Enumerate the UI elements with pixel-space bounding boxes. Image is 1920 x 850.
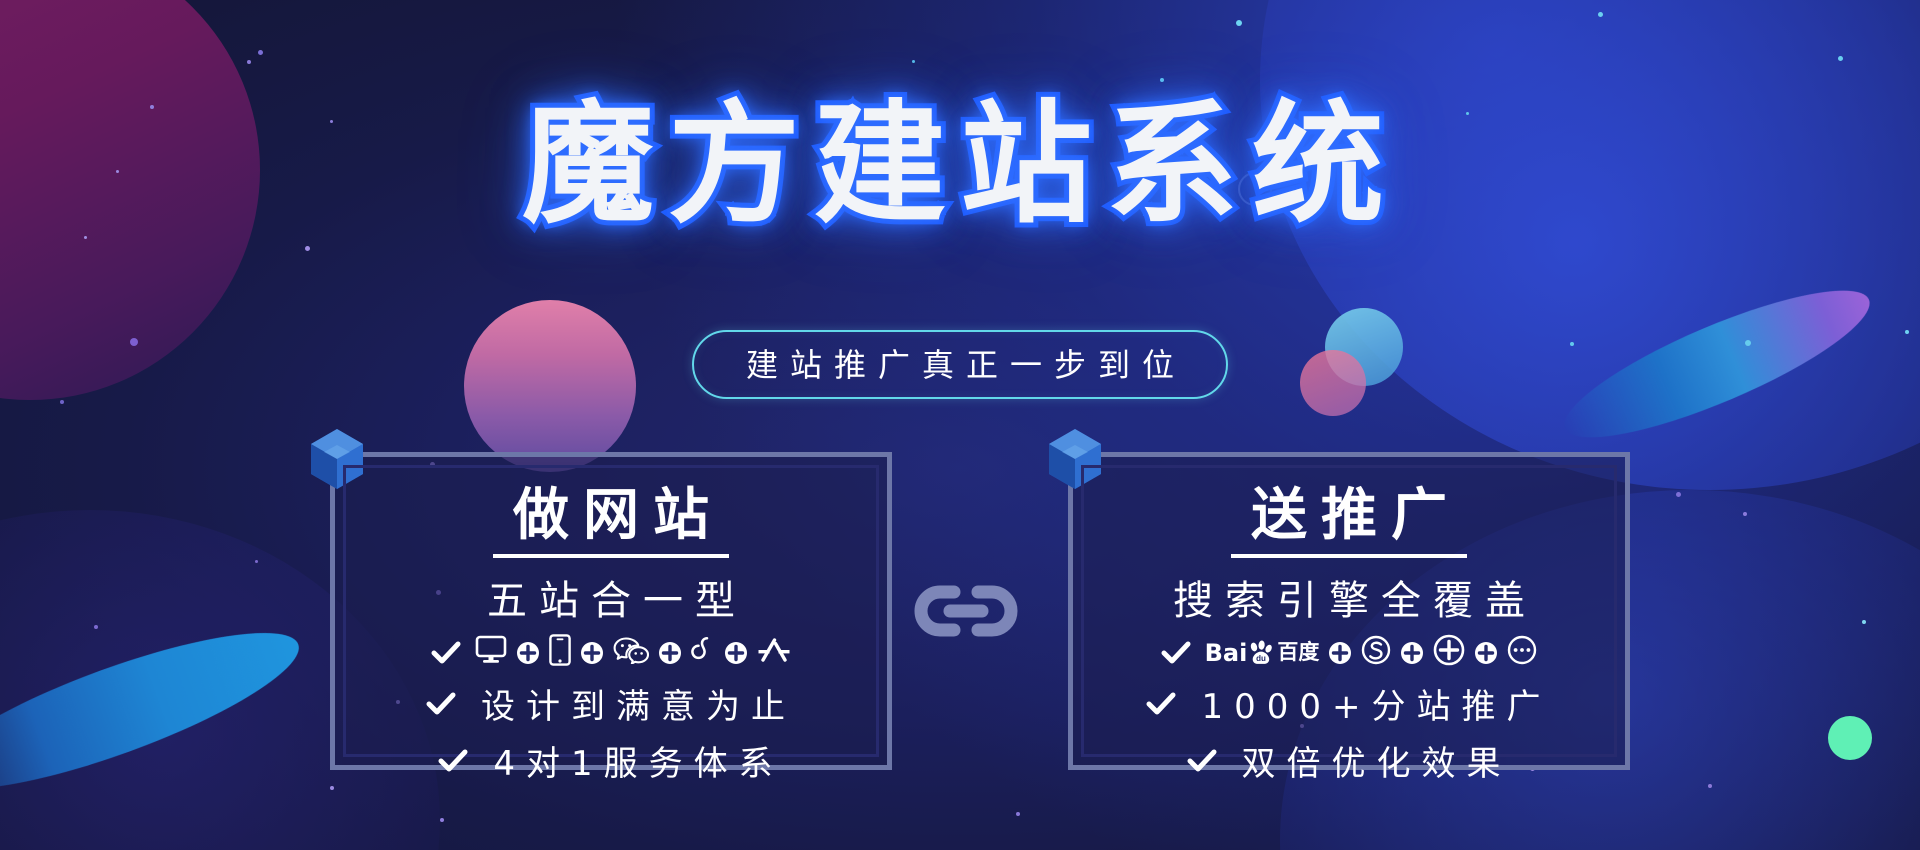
star-dot [258, 50, 263, 55]
bg-glow-top-right [1260, 0, 1920, 490]
baidu-paw-icon: du [1248, 640, 1274, 666]
check-icon [438, 748, 468, 774]
card-make-website[interactable]: 做网站 五站合一型 [330, 452, 892, 770]
baidu-logo: Bai du 百度 [1205, 640, 1320, 666]
alipay-hook-icon [691, 635, 715, 670]
baidu-label-cn: 百度 [1277, 642, 1319, 663]
card-subheading: 搜索引擎全覆盖 [1084, 568, 1614, 626]
star-dot [255, 560, 258, 563]
star-dot [330, 786, 334, 790]
check-icon [1161, 640, 1191, 666]
subtitle-block: 建站推广真正一步到位 [0, 330, 1920, 399]
check-icon [1146, 691, 1176, 717]
card-body: 送推广 搜索引擎全覆盖 Bai [1081, 465, 1617, 757]
star-dot [1838, 56, 1843, 61]
sogou-icon [1361, 635, 1391, 670]
star-dot [1676, 492, 1681, 497]
plus-circle-icon [724, 641, 748, 665]
platform-icon-list [475, 634, 791, 671]
feature-label: 双倍优化效果 [1231, 736, 1512, 785]
star-dot [305, 246, 310, 251]
desktop-monitor-icon [475, 635, 507, 670]
check-icon [426, 691, 456, 717]
star-dot [1708, 784, 1712, 788]
baidu-label-bai: Bai [1205, 641, 1248, 665]
mobile-phone-icon [549, 634, 571, 671]
chain-link-icon [910, 580, 1022, 642]
wechat-icon [613, 636, 649, 669]
plus-circle-icon [1474, 641, 1498, 665]
app-store-icon [757, 637, 791, 668]
feature-row-text: 设计到满意为止 [346, 679, 876, 728]
ellipsis-circle-icon [1507, 635, 1537, 670]
star-dot [912, 60, 915, 63]
banner-stage: 魔方建站系统 建站推广真正一步到位 做网站 五站合一型 [0, 0, 1920, 850]
feature-row-text: 双倍优化效果 [1084, 736, 1614, 785]
card-heading: 做网站 [493, 486, 729, 558]
star-dot [1016, 812, 1020, 816]
feature-label: 4对1服务体系 [482, 736, 783, 785]
plus-circle-icon [580, 641, 604, 665]
star-dot [60, 400, 64, 404]
comet-left [0, 604, 313, 818]
feature-row-icons: Bai du 百度 [1084, 634, 1614, 671]
plus-circle-icon [1400, 641, 1424, 665]
orb-mint [1828, 716, 1872, 760]
svg-text:du: du [1256, 654, 1266, 663]
star-dot [1160, 78, 1164, 82]
360-search-icon [1433, 634, 1465, 671]
check-icon [431, 640, 461, 666]
plus-circle-icon [516, 641, 540, 665]
star-dot [1862, 620, 1866, 624]
search-engine-icon-list: Bai du 百度 [1205, 634, 1538, 671]
feature-label: 设计到满意为止 [470, 679, 796, 728]
page-title: 魔方建站系统 [522, 92, 1398, 240]
feature-row-text: 1000+分站推广 [1084, 679, 1614, 728]
subtitle-pill: 建站推广真正一步到位 [692, 330, 1228, 399]
star-dot [247, 60, 251, 64]
card-heading: 送推广 [1231, 486, 1467, 558]
check-icon [1187, 748, 1217, 774]
feature-row-icons [346, 634, 876, 671]
card-free-promotion[interactable]: 送推广 搜索引擎全覆盖 Bai [1068, 452, 1630, 770]
star-dot [1743, 512, 1747, 516]
star-dot [440, 818, 444, 822]
star-dot [94, 625, 98, 629]
plus-circle-icon [658, 641, 682, 665]
card-body: 做网站 五站合一型 [343, 465, 879, 757]
star-dot [1598, 12, 1603, 17]
title-block: 魔方建站系统 [0, 92, 1920, 240]
feature-row-text: 4对1服务体系 [346, 736, 876, 785]
star-dot [1236, 20, 1242, 26]
feature-label: 1000+分站推广 [1190, 679, 1551, 728]
plus-circle-icon [1328, 641, 1352, 665]
card-subheading: 五站合一型 [346, 568, 876, 626]
